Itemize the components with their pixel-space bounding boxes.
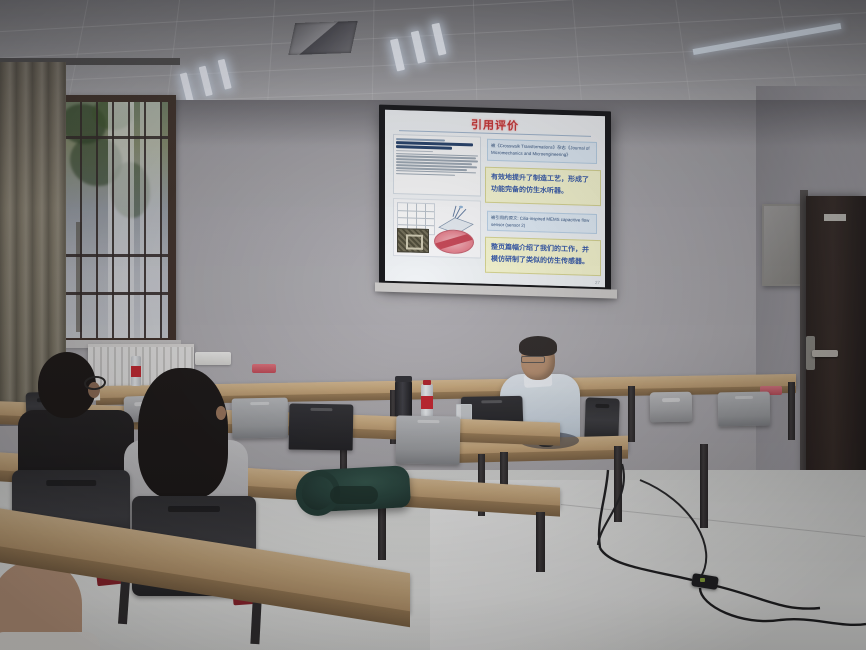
classroom-photo: 引用评价 <box>0 0 866 650</box>
photo-vignette <box>0 0 866 650</box>
